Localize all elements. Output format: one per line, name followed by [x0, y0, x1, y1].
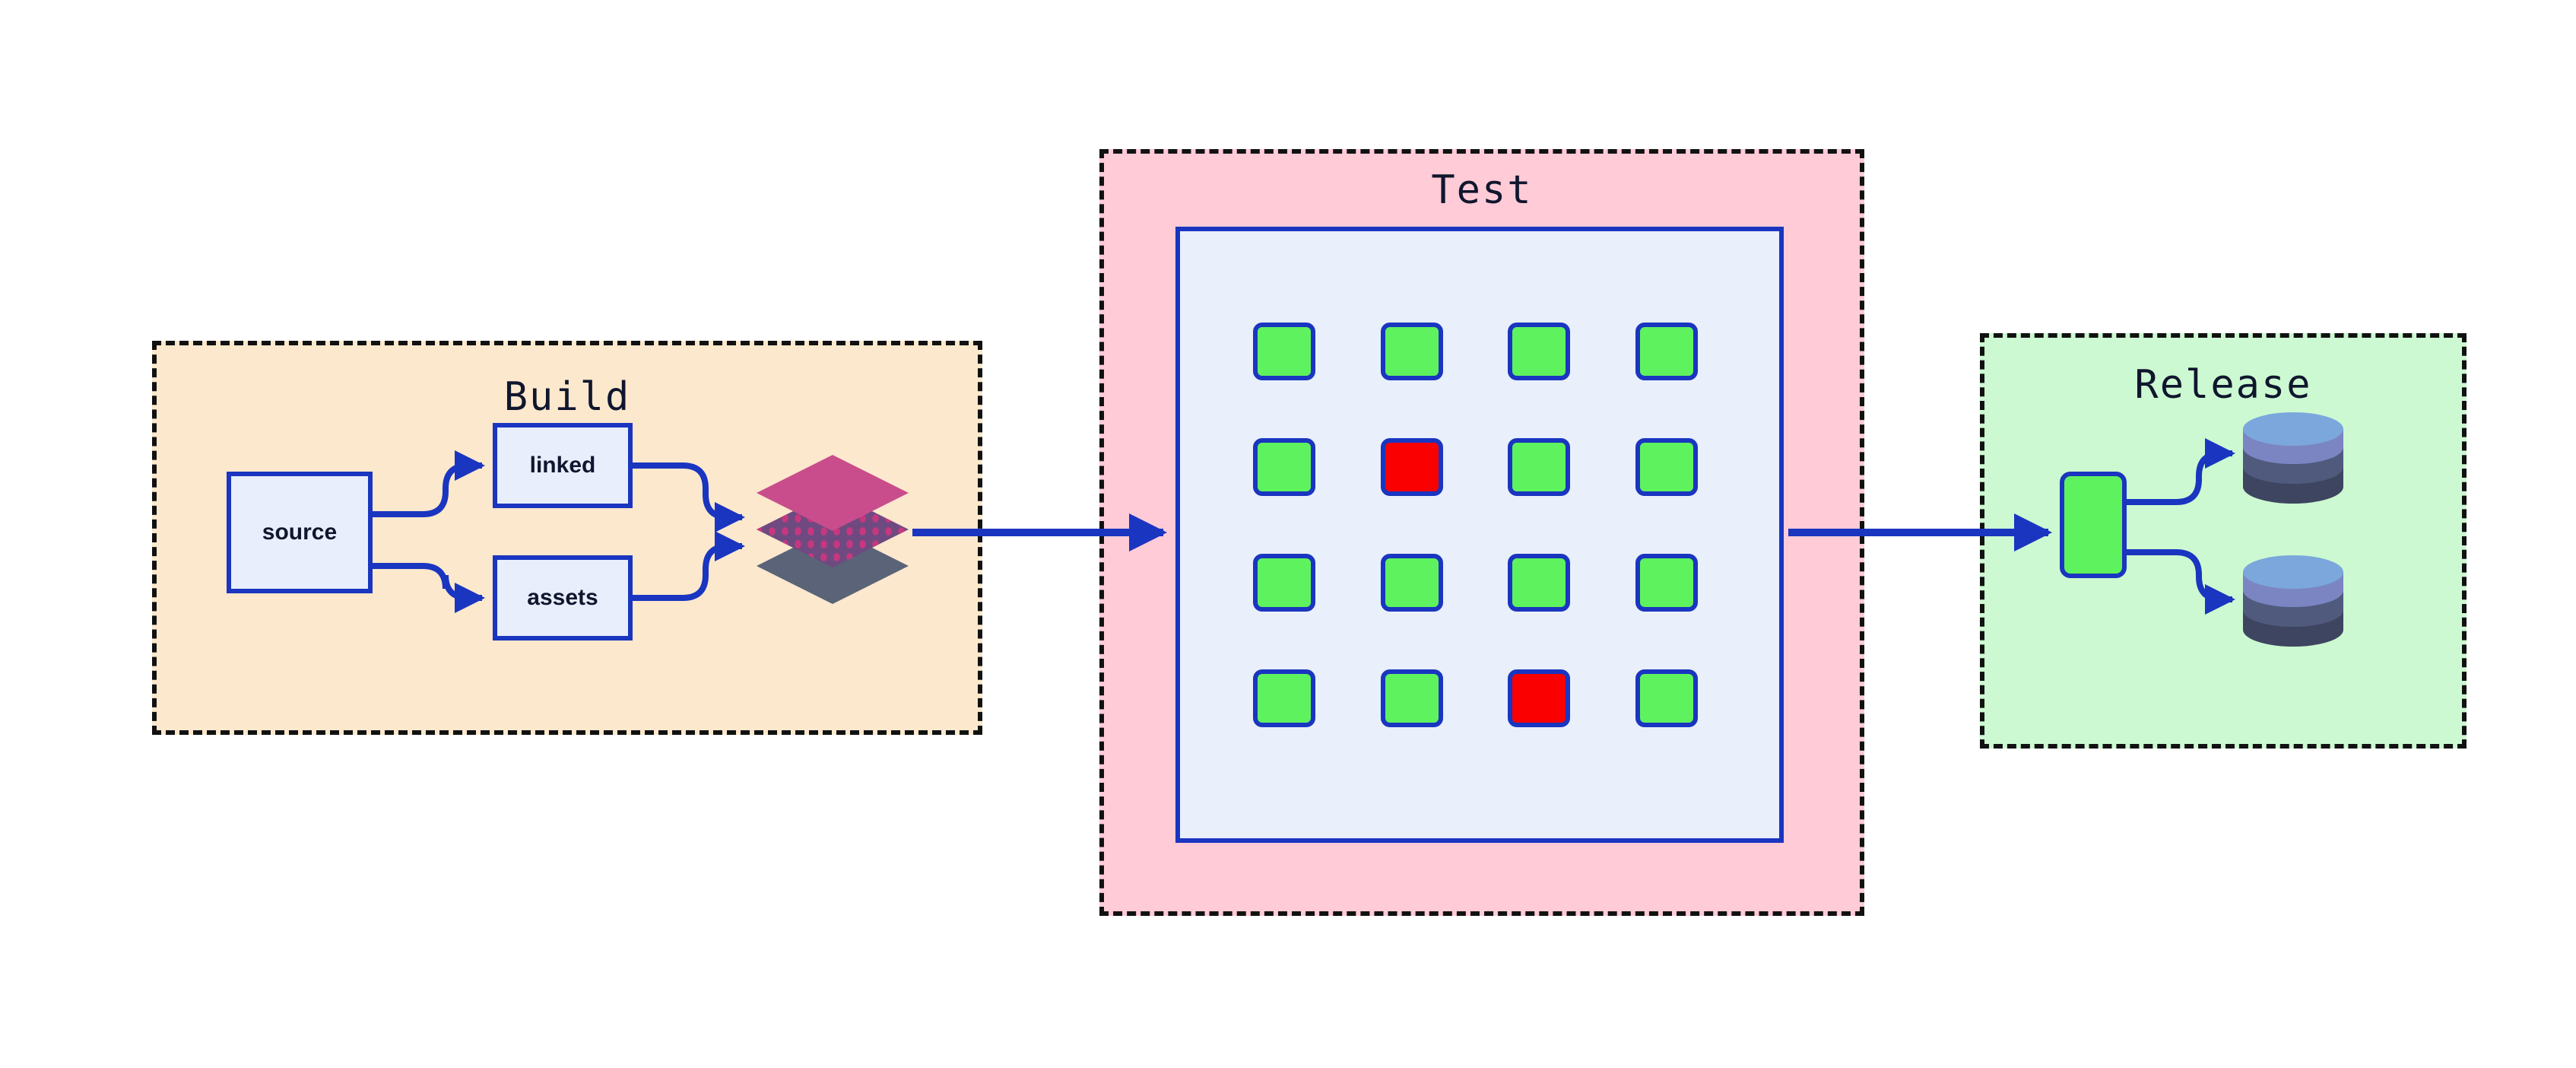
test-cell-pass[interactable] — [1635, 438, 1698, 496]
node-source[interactable]: source — [227, 472, 373, 593]
layers-icon — [753, 447, 912, 612]
node-linked[interactable]: linked — [493, 423, 633, 508]
test-cell-fail[interactable] — [1381, 438, 1443, 496]
test-results-grid — [1253, 323, 1717, 727]
node-assets-label: assets — [527, 585, 598, 611]
test-results-panel[interactable] — [1175, 227, 1784, 843]
node-assets[interactable]: assets — [493, 555, 633, 640]
node-source-label: source — [262, 520, 337, 545]
test-cell-pass[interactable] — [1253, 669, 1315, 727]
database-icon[interactable] — [2240, 412, 2346, 504]
stage-release[interactable]: Release — [1980, 333, 2467, 749]
test-cell-pass[interactable] — [1635, 323, 1698, 380]
stage-build-title: Build — [157, 374, 978, 420]
test-cell-pass[interactable] — [1508, 323, 1570, 380]
diagram-canvas: Build source linked assets Test — [0, 0, 2576, 1068]
test-cell-pass[interactable] — [1253, 554, 1315, 612]
test-cell-pass[interactable] — [1508, 554, 1570, 612]
test-cell-pass[interactable] — [1635, 669, 1698, 727]
node-linked-label: linked — [530, 453, 596, 478]
test-cell-fail[interactable] — [1508, 669, 1570, 727]
node-release-artifact[interactable] — [2060, 472, 2127, 578]
test-cell-pass[interactable] — [1381, 554, 1443, 612]
test-cell-pass[interactable] — [1253, 438, 1315, 496]
test-cell-pass[interactable] — [1508, 438, 1570, 496]
stage-release-title: Release — [1984, 362, 2462, 408]
database-icon[interactable] — [2240, 555, 2346, 647]
test-cell-pass[interactable] — [1381, 323, 1443, 380]
stage-test-title: Test — [1104, 167, 1860, 213]
test-cell-pass[interactable] — [1635, 554, 1698, 612]
test-cell-pass[interactable] — [1253, 323, 1315, 380]
test-cell-pass[interactable] — [1381, 669, 1443, 727]
